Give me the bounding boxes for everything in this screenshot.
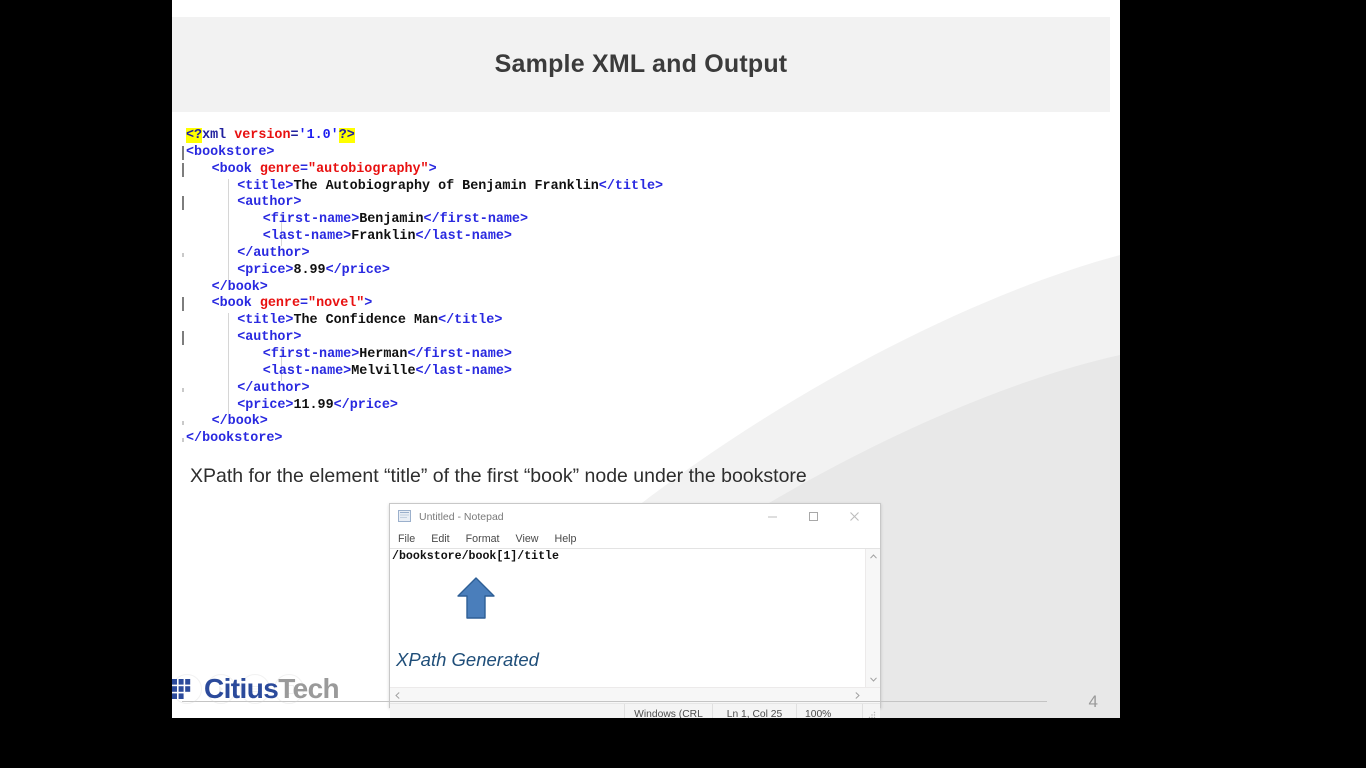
title-band: Sample XML and Output	[172, 17, 1110, 112]
xml-code-line: <price>8.99</price>	[176, 263, 896, 280]
menu-item-format[interactable]: Format	[465, 533, 501, 545]
close-button[interactable]	[834, 504, 874, 529]
xml-code-text: <book genre="novel">	[212, 296, 373, 313]
xml-code-line: <?xml version='1.0'?>	[176, 128, 896, 145]
page-title: Sample XML and Output	[172, 17, 1110, 112]
xml-code-text: </author>	[237, 246, 309, 263]
up-arrow-icon	[456, 577, 496, 624]
xml-code-line: </bookstore>	[176, 431, 896, 448]
change-marker	[182, 388, 184, 392]
xml-code-text: <price>11.99</price>	[237, 398, 398, 415]
indent-guide	[228, 313, 229, 330]
change-marker	[182, 196, 184, 210]
xml-code-text: <bookstore>	[186, 145, 274, 162]
logo-mark-icon	[172, 679, 198, 699]
page-number: 4	[1089, 692, 1098, 712]
minimize-button[interactable]	[752, 504, 792, 529]
xml-code-text: </bookstore>	[186, 431, 282, 448]
xml-code-text: <first-name>Herman</first-name>	[263, 347, 512, 364]
xml-code-line: <author>	[176, 330, 896, 347]
xml-code-line: <first-name>Herman</first-name>	[176, 347, 896, 364]
vertical-scrollbar[interactable]	[865, 549, 880, 687]
scroll-up-icon[interactable]	[866, 549, 880, 564]
notepad-titlebar[interactable]: Untitled - Notepad	[390, 504, 880, 529]
xml-code-line: </author>	[176, 381, 896, 398]
menu-item-help[interactable]: Help	[554, 533, 578, 545]
xml-code-line: <author>	[176, 195, 896, 212]
xpath-caption: XPath for the element “title” of the fir…	[190, 465, 807, 488]
change-marker	[182, 146, 184, 160]
xml-code-line: <first-name>Benjamin</first-name>	[176, 212, 896, 229]
menu-item-view[interactable]: View	[515, 533, 540, 545]
xml-code-text: <title>The Autobiography of Benjamin Fra…	[237, 179, 663, 196]
xml-code-line: </book>	[176, 414, 896, 431]
xml-code-text: <author>	[237, 330, 301, 347]
xml-code-text: </book>	[212, 280, 268, 297]
change-marker	[182, 253, 184, 257]
xml-code-text: <title>The Confidence Man</title>	[237, 313, 502, 330]
xml-code-line: <title>The Confidence Man</title>	[176, 313, 896, 330]
indent-guide	[228, 263, 229, 280]
status-encoding: Windows (CRL	[624, 704, 712, 718]
notepad-text-content: /bookstore/book[1]/title	[392, 550, 559, 563]
indent-guide	[228, 179, 229, 196]
notepad-title-text: Untitled - Notepad	[419, 511, 504, 523]
indent-guide	[228, 330, 229, 347]
change-marker	[182, 421, 184, 425]
xml-code-line: <last-name>Melville</last-name>	[176, 364, 896, 381]
indent-guide	[228, 212, 229, 229]
notepad-status-bar: Windows (CRL Ln 1, Col 25 100%	[390, 703, 880, 718]
xml-code-text: <last-name>Franklin</last-name>	[263, 229, 512, 246]
xml-code-line: <bookstore>	[176, 145, 896, 162]
notepad-menubar[interactable]: File Edit Format View Help	[390, 529, 880, 548]
xml-code-text: <author>	[237, 195, 301, 212]
citiustech-logo: CitiusTech	[172, 672, 339, 706]
xml-code-line: <book genre="autobiography">	[176, 162, 896, 179]
status-cursor-position: Ln 1, Col 25	[712, 704, 796, 718]
xml-code-text: <first-name>Benjamin</first-name>	[263, 212, 528, 229]
logo-text: CitiusTech	[204, 673, 339, 705]
notepad-window[interactable]: Untitled - Notepad File Edit Format View	[389, 503, 881, 708]
menu-item-edit[interactable]: Edit	[430, 533, 450, 545]
xml-code-line: <price>11.99</price>	[176, 398, 896, 415]
xml-code-line: <title>The Autobiography of Benjamin Fra…	[176, 179, 896, 196]
logo-text-citius: Citius	[204, 673, 278, 704]
scroll-down-icon[interactable]	[866, 672, 880, 687]
indent-guide	[228, 195, 229, 212]
indent-guide	[228, 229, 229, 246]
maximize-button[interactable]	[793, 504, 833, 529]
indent-guide	[228, 398, 229, 415]
presentation-slide: Sample XML and Output <?xml version='1.0…	[172, 0, 1120, 718]
xml-code-text: <last-name>Melville</last-name>	[263, 364, 512, 381]
indent-guide	[228, 381, 229, 398]
xml-code-text: <?xml version='1.0'?>	[186, 128, 355, 145]
xml-code-block: <?xml version='1.0'?><bookstore><book ge…	[176, 128, 896, 448]
indent-guide	[228, 364, 229, 381]
menu-item-file[interactable]: File	[397, 533, 416, 545]
notepad-icon	[398, 510, 412, 523]
change-marker	[182, 438, 184, 442]
indent-guide	[228, 347, 229, 364]
status-zoom-level: 100%	[796, 704, 862, 718]
xml-code-line: </author>	[176, 246, 896, 263]
xml-code-line: <book genre="novel">	[176, 296, 896, 313]
screen: Sample XML and Output <?xml version='1.0…	[0, 0, 1366, 768]
xml-code-line: </book>	[176, 280, 896, 297]
change-marker	[182, 297, 184, 311]
xml-code-text: </author>	[237, 381, 309, 398]
notepad-text-area[interactable]: /bookstore/book[1]/title XPath Generated	[390, 548, 880, 687]
xpath-generated-label: XPath Generated	[396, 649, 539, 671]
resize-grip-icon[interactable]	[862, 704, 880, 718]
indent-guide	[228, 246, 229, 263]
xml-code-line: <last-name>Franklin</last-name>	[176, 229, 896, 246]
xml-code-text: <price>8.99</price>	[237, 263, 390, 280]
change-marker	[182, 163, 184, 177]
logo-text-tech: Tech	[278, 673, 339, 704]
change-marker	[182, 331, 184, 345]
xml-code-text: </book>	[212, 414, 268, 431]
xml-code-text: <book genre="autobiography">	[212, 162, 437, 179]
